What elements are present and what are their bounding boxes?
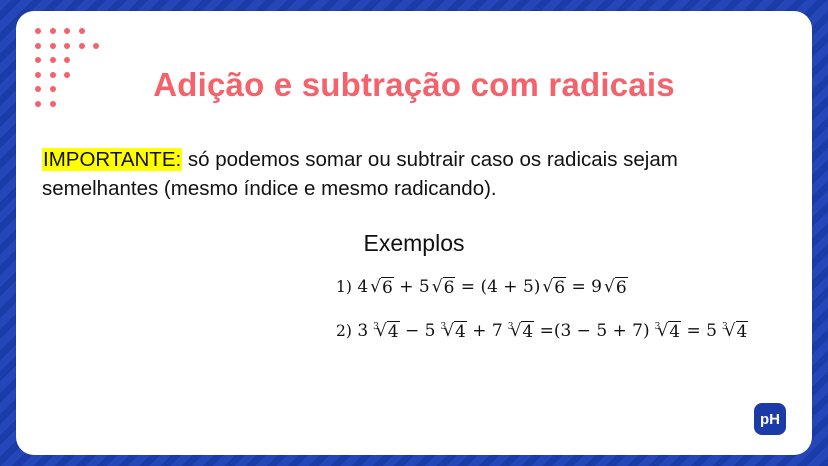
example-1-group: (4 + 5) (480, 277, 540, 297)
ph-logo: pH (754, 403, 786, 435)
example-2-index-2: 3 (440, 322, 446, 332)
example-2-radicand-1: 4 (387, 321, 400, 342)
example-2-radicand-4: 4 (668, 321, 681, 342)
sqrt-icon: √6 (430, 279, 456, 296)
example-1-result-coef: 9 (591, 277, 602, 297)
example-1-equals-2: = (571, 277, 585, 297)
example-2-index-1: 3 (373, 322, 379, 332)
dot (93, 43, 99, 49)
dot (93, 28, 99, 34)
sqrt-icon: √6 (602, 279, 628, 296)
cbrt-icon: 3√4 (503, 323, 534, 340)
example-2-label: 2) (336, 322, 352, 340)
example-2-result-radicand: 4 (736, 321, 749, 342)
example-2-radicand-2: 4 (454, 321, 467, 342)
dot (35, 43, 41, 49)
radical-sign: √ (604, 277, 615, 297)
dot (79, 28, 85, 34)
example-1-radicand-2: 6 (443, 277, 456, 298)
dot (79, 43, 85, 49)
dot (35, 57, 41, 63)
dot (50, 43, 56, 49)
example-1-radicand-3: 6 (553, 277, 566, 298)
example-2-result-coef: 5 (706, 321, 717, 341)
dot (64, 28, 70, 34)
cbrt-icon: 3√4 (717, 323, 748, 340)
dot (35, 28, 41, 34)
example-1-label: 1) (336, 278, 352, 296)
cbrt-icon: 3√4 (650, 323, 681, 340)
page-title: Adição e subtração com radicais (16, 66, 812, 104)
example-2-op-plus: + (472, 321, 486, 341)
example-1-radicand-1: 6 (381, 277, 394, 298)
example-2-coef-2: 5 (425, 321, 436, 341)
example-1-coef-1: 4 (357, 277, 368, 297)
examples-list: 1) 4√6 + 5√6 = (4 + 5)√6 = 9√6 2) 33√4 −… (336, 279, 756, 340)
cbrt-icon: 3√4 (368, 323, 399, 340)
dot (79, 57, 85, 63)
example-1-equals-1: = (461, 277, 475, 297)
cbrt-icon: 3√4 (435, 323, 466, 340)
radical-sign: √ (542, 277, 553, 297)
radical-sign: √ (370, 277, 381, 297)
example-2-op-minus: − (405, 321, 419, 341)
dot (50, 28, 56, 34)
example-2-index-5: 3 (722, 322, 728, 332)
example-2-index-3: 3 (508, 322, 514, 332)
important-label: IMPORTANTE: (42, 148, 182, 171)
dot (64, 43, 70, 49)
slide-background: Adição e subtração com radicais IMPORTAN… (0, 0, 828, 466)
dot (64, 57, 70, 63)
example-1-coef-2: 5 (419, 277, 430, 297)
example-2: 2) 33√4 − 53√4 + 73√4 =(3 − 5 + 7)3√4 = … (336, 323, 756, 340)
sqrt-icon: √6 (368, 279, 394, 296)
important-note: IMPORTANTE: só podemos somar ou subtrair… (42, 145, 772, 203)
example-1-op-plus: + (399, 277, 413, 297)
example-2-coef-1: 3 (357, 321, 368, 341)
slide-card: Adição e subtração com radicais IMPORTAN… (16, 11, 812, 455)
example-2-index-4: 3 (655, 322, 661, 332)
example-2-radicand-3: 4 (521, 321, 534, 342)
dot (93, 57, 99, 63)
example-2-equals-1: = (540, 321, 554, 341)
example-2-equals-2: = (686, 321, 700, 341)
radical-sign: √ (432, 277, 443, 297)
example-2-group: (3 − 5 + 7) (554, 321, 650, 341)
dot (50, 57, 56, 63)
examples-heading: Exemplos (16, 230, 812, 257)
sqrt-icon: √6 (540, 279, 566, 296)
example-1: 1) 4√6 + 5√6 = (4 + 5)√6 = 9√6 (336, 279, 756, 296)
example-1-result-radicand: 6 (615, 277, 628, 298)
example-2-coef-3: 7 (492, 321, 503, 341)
